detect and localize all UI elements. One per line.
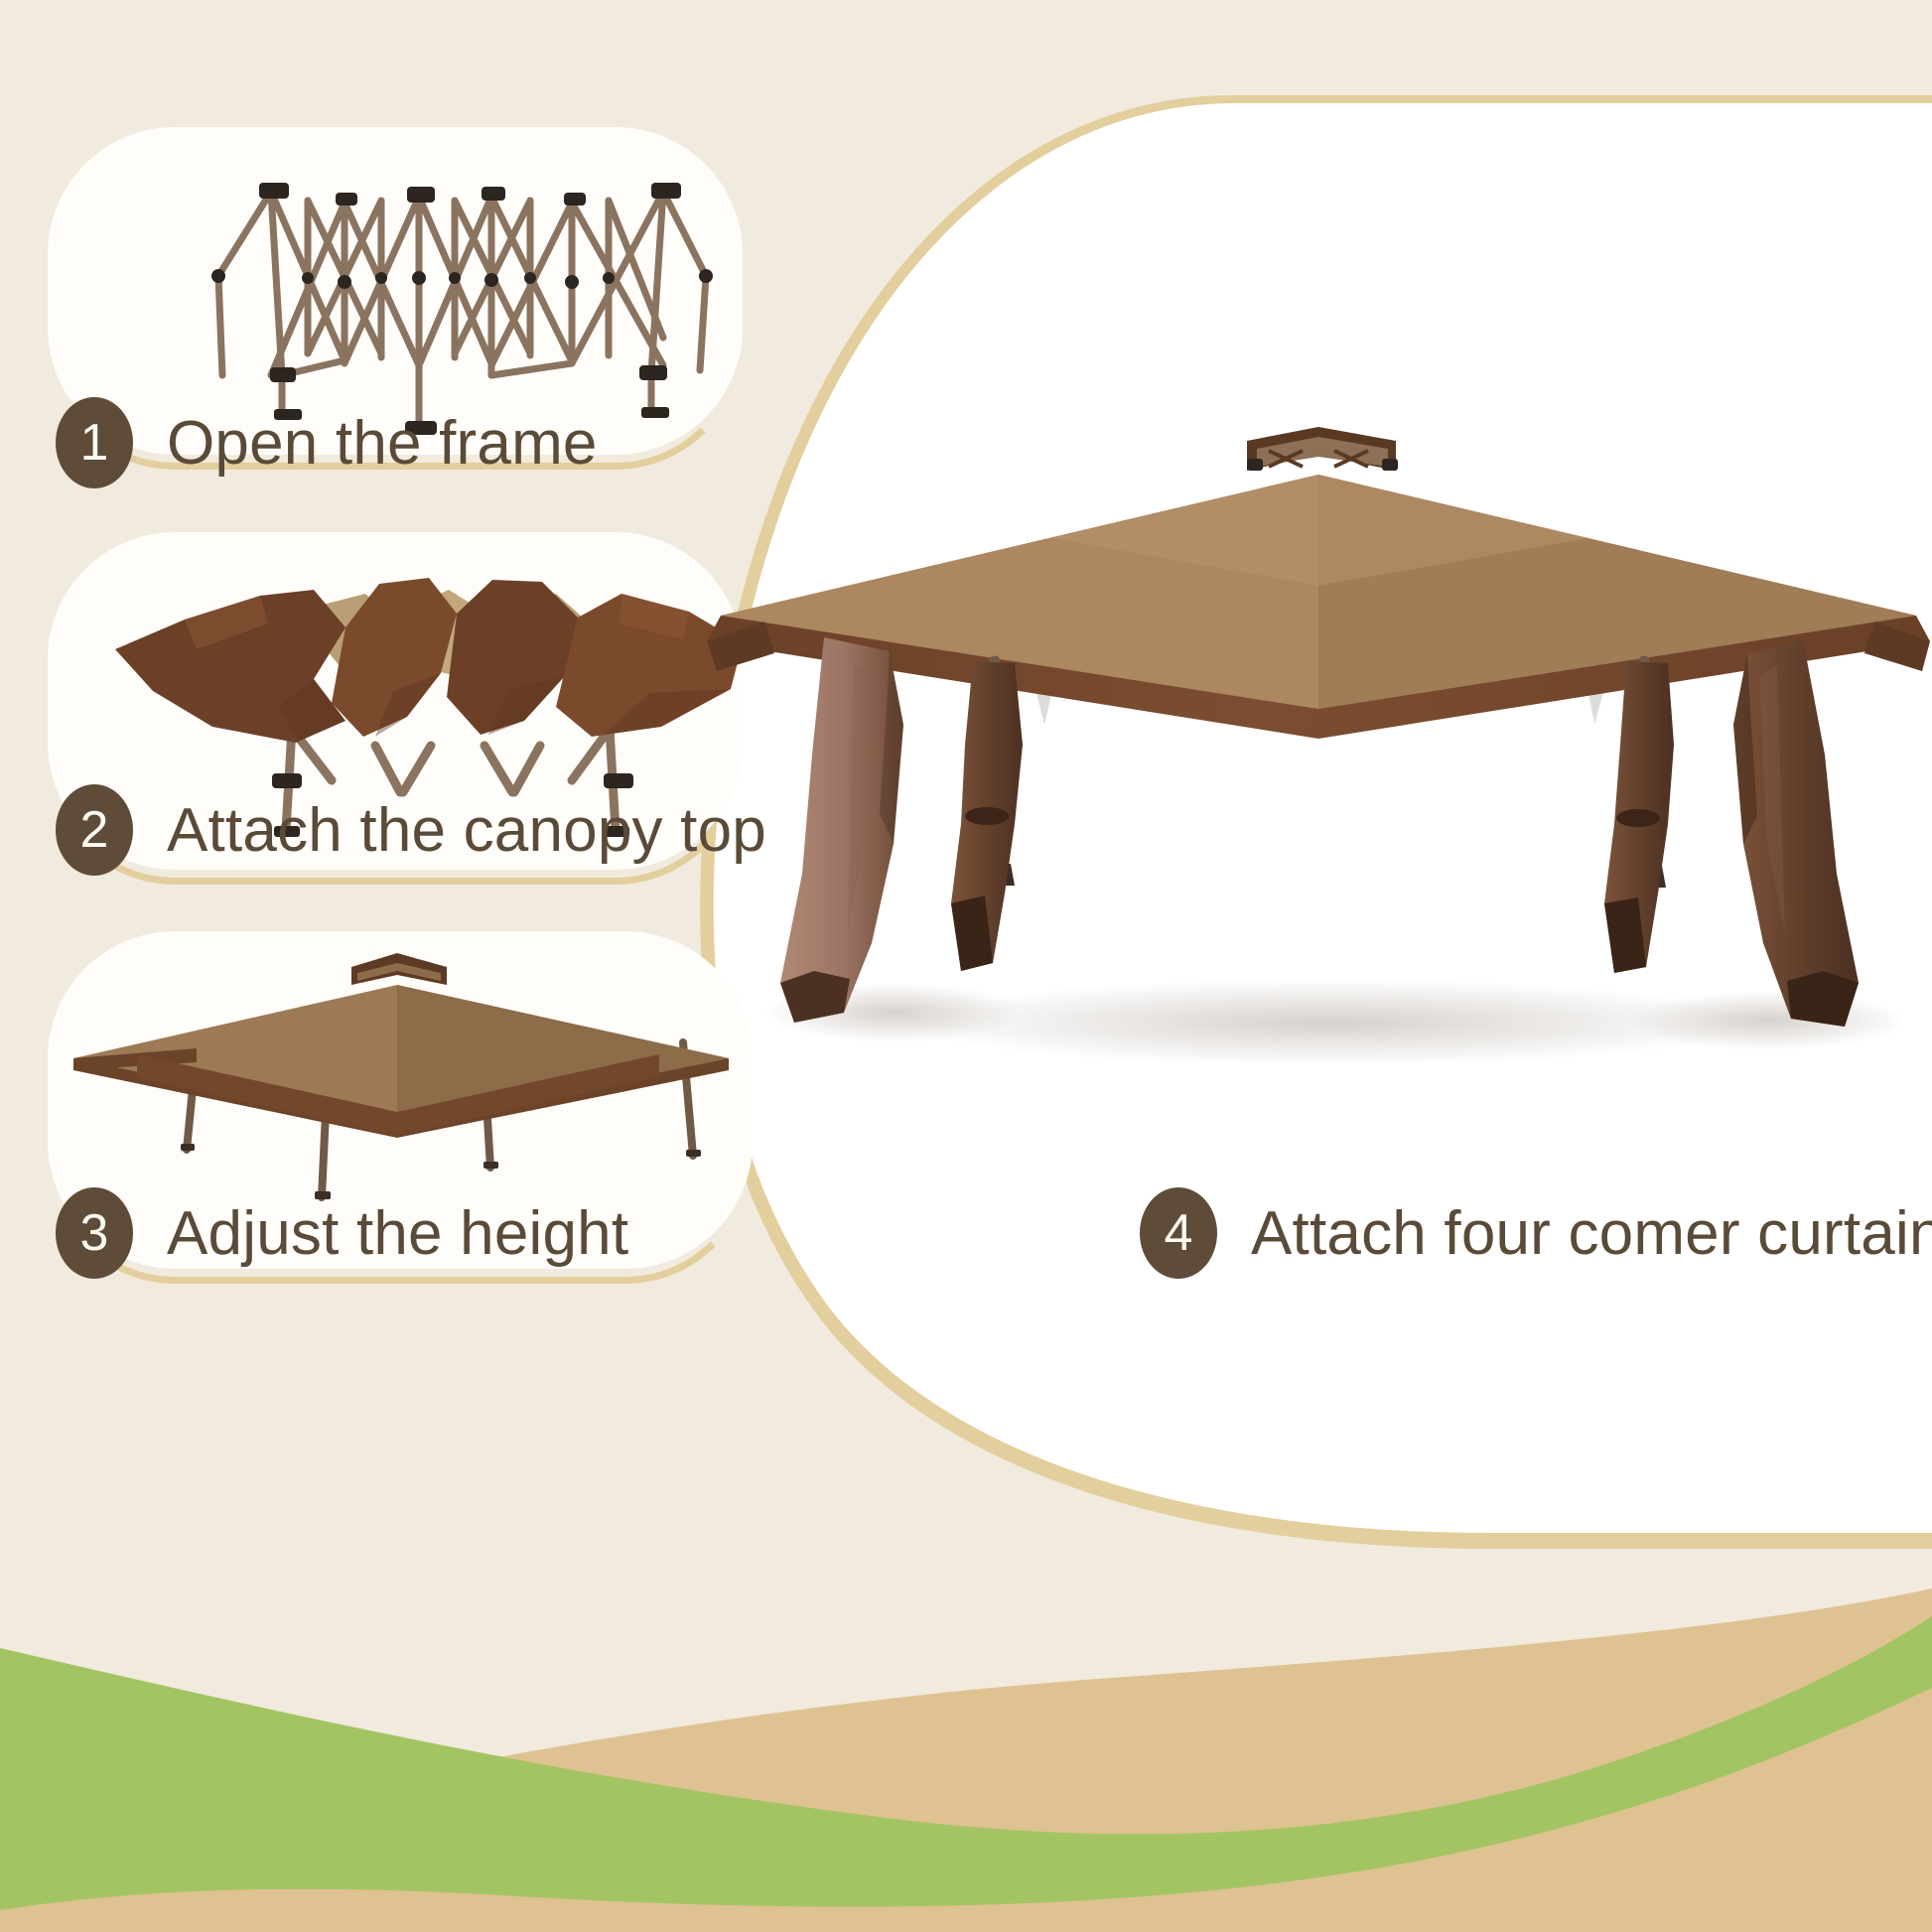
step-badge-2: 2: [56, 784, 133, 876]
step-label-2: Attach the canopy top: [167, 795, 766, 866]
step-label-3: Adjust the height: [167, 1198, 628, 1269]
step-row-3[interactable]: 3 Adjust the height: [56, 1187, 628, 1279]
step-badge-3: 3: [56, 1187, 133, 1279]
step-label-4: Attach four comer curtains: [1251, 1198, 1932, 1269]
step-row-1[interactable]: 1 Open the frame: [56, 397, 598, 488]
step-badge-4: 4: [1140, 1187, 1217, 1279]
step-badge-1: 1: [56, 397, 133, 488]
step-row-2[interactable]: 2 Attach the canopy top: [56, 784, 766, 876]
gazebo-with-curtains-photo: [695, 427, 1932, 1062]
step-label-1: Open the frame: [167, 408, 598, 479]
infographic-stage: 1 Open the frame: [0, 0, 1932, 1932]
hero-image-wrap: [695, 427, 1932, 1062]
step-row-4[interactable]: 4 Attach four comer curtains: [1140, 1187, 1932, 1279]
